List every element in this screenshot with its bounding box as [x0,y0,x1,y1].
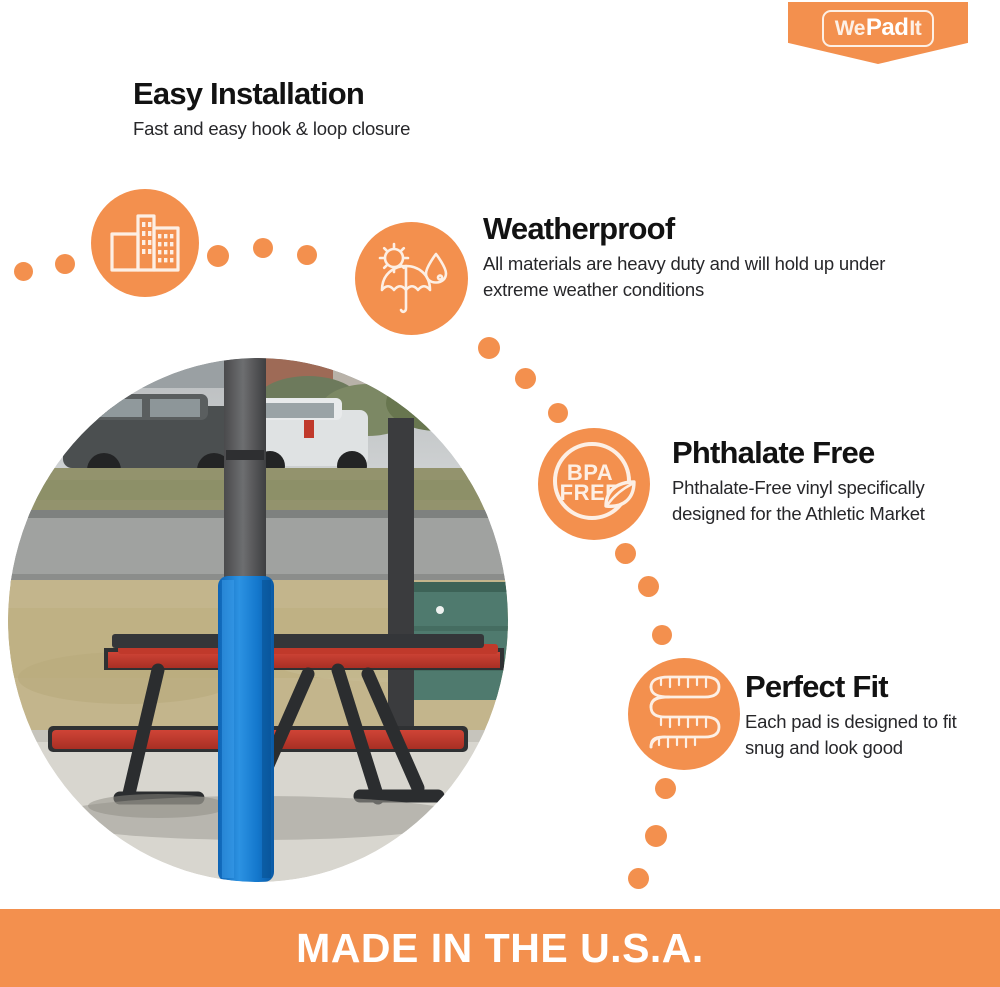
trail-dot [207,245,229,267]
product-photo [8,358,508,882]
trail-dot [253,238,273,258]
feature-easy-installation: Easy Installation Fast and easy hook & l… [133,78,563,142]
photo-illustration [8,358,508,882]
trail-dot [297,245,317,265]
feature-title: Perfect Fit [745,671,985,704]
trail-dot [478,337,500,359]
building-icon [91,189,199,297]
infographic-page: We Pad It [0,0,1000,987]
trail-dot [55,254,75,274]
feature-phthalate-free: Phthalate Free Phthalate-Free vinyl spec… [672,437,972,527]
banner-text: MADE IN THE U.S.A. [296,928,704,969]
feature-title: Weatherproof [483,213,913,246]
feature-description: Phthalate-Free vinyl specifically design… [672,475,972,528]
trail-dot [615,543,636,564]
logo-outline-box: We Pad It [822,10,934,47]
feature-description: Fast and easy hook & loop closure [133,116,563,142]
trail-dot [655,778,676,799]
trail-dot [652,625,672,645]
trail-dot [14,262,33,281]
bpa-free-leaf-icon: BPA FREE [538,428,650,540]
feature-title: Easy Installation [133,78,563,111]
feature-description: Each pad is designed to fit snug and loo… [745,709,985,762]
feature-description: All materials are heavy duty and will ho… [483,251,913,304]
trail-dot [515,368,536,389]
trail-dot [548,403,568,423]
trail-dot [638,576,659,597]
sun-umbrella-raindrop-icon [355,222,468,335]
logo-text-we: We [835,17,865,41]
trail-dot [628,868,649,889]
logo-text-pad: Pad [865,14,910,42]
measuring-tape-icon [628,658,740,770]
feature-title: Phthalate Free [672,437,972,470]
logo-text-it: It [909,17,921,41]
brand-logo: We Pad It [788,2,968,64]
trail-dot [645,825,667,847]
made-in-usa-banner: MADE IN THE U.S.A. [0,909,1000,987]
feature-perfect-fit: Perfect Fit Each pad is designed to fit … [745,671,985,761]
feature-weatherproof: Weatherproof All materials are heavy dut… [483,213,913,303]
